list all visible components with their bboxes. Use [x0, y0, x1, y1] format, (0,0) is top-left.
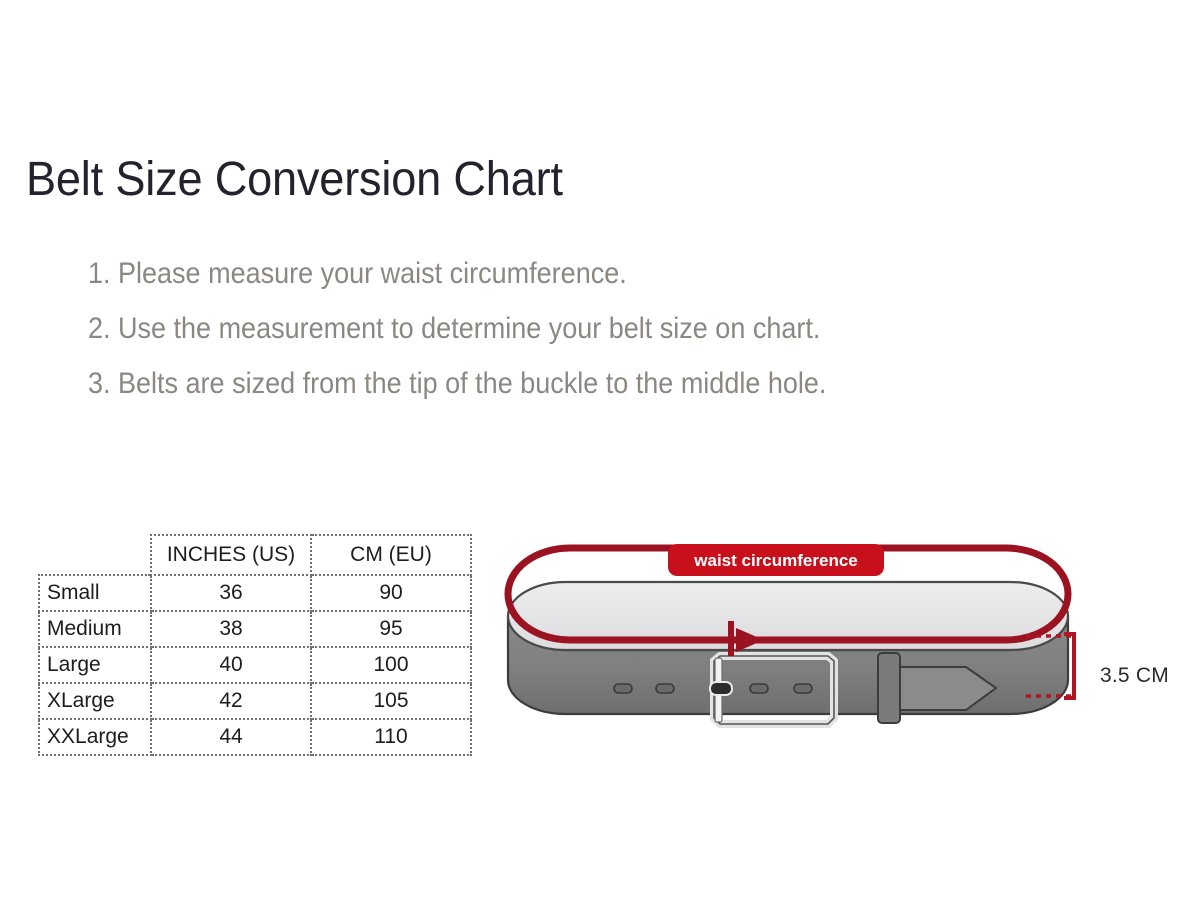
cell-size: XLarge — [39, 683, 151, 719]
page-title: Belt Size Conversion Chart — [26, 150, 563, 210]
cell-size: Small — [39, 575, 151, 611]
column-header-cm: CM (EU) — [311, 535, 471, 575]
cell-inches: 42 — [151, 683, 311, 719]
document-page: Belt Size Conversion Chart 1. Please mea… — [0, 0, 1200, 898]
cell-cm: 100 — [311, 647, 471, 683]
belt-hole-middle — [710, 682, 732, 695]
cell-cm: 105 — [311, 683, 471, 719]
cell-size: Medium — [39, 611, 151, 647]
table-row: XLarge 42 105 — [39, 683, 471, 719]
keeper-loop-shape — [878, 653, 900, 723]
waist-circumference-badge: waist circumference — [668, 544, 884, 576]
instruction-list: 1. Please measure your waist circumferen… — [88, 246, 1088, 411]
table-corner-cell — [39, 535, 151, 575]
cell-cm: 90 — [311, 575, 471, 611]
cell-size: Large — [39, 647, 151, 683]
table-row: Large 40 100 — [39, 647, 471, 683]
cell-cm: 110 — [311, 719, 471, 755]
table-header: INCHES (US) CM (EU) — [39, 535, 471, 575]
belt-width-label: 3.5 CM — [1100, 664, 1169, 688]
belt-hole — [614, 684, 632, 693]
cell-size: XXLarge — [39, 719, 151, 755]
instruction-item-2: 2. Use the measurement to determine your… — [88, 301, 988, 356]
belt-diagram-svg: waist circumference — [498, 528, 1078, 753]
cell-inches: 44 — [151, 719, 311, 755]
cell-inches: 36 — [151, 575, 311, 611]
cell-cm: 95 — [311, 611, 471, 647]
table-row: XXLarge 44 110 — [39, 719, 471, 755]
belt-size-table: INCHES (US) CM (EU) Small 36 90 Medium 3… — [38, 534, 472, 756]
instruction-item-3: 3. Belts are sized from the tip of the b… — [88, 356, 988, 411]
cell-inches: 38 — [151, 611, 311, 647]
badge-label: waist circumference — [693, 551, 857, 570]
belt-hole — [750, 684, 768, 693]
column-header-inches: INCHES (US) — [151, 535, 311, 575]
table-header-row: INCHES (US) CM (EU) — [39, 535, 471, 575]
cell-inches: 40 — [151, 647, 311, 683]
table-row: Small 36 90 — [39, 575, 471, 611]
table-body: Small 36 90 Medium 38 95 Large 40 100 XL… — [39, 575, 471, 755]
belt-keeper-loop — [878, 653, 900, 723]
belt-diagram: waist circumference — [498, 528, 1078, 753]
belt-hole — [794, 684, 812, 693]
belt-hole — [656, 684, 674, 693]
table-row: Medium 38 95 — [39, 611, 471, 647]
instruction-item-1: 1. Please measure your waist circumferen… — [88, 246, 988, 301]
